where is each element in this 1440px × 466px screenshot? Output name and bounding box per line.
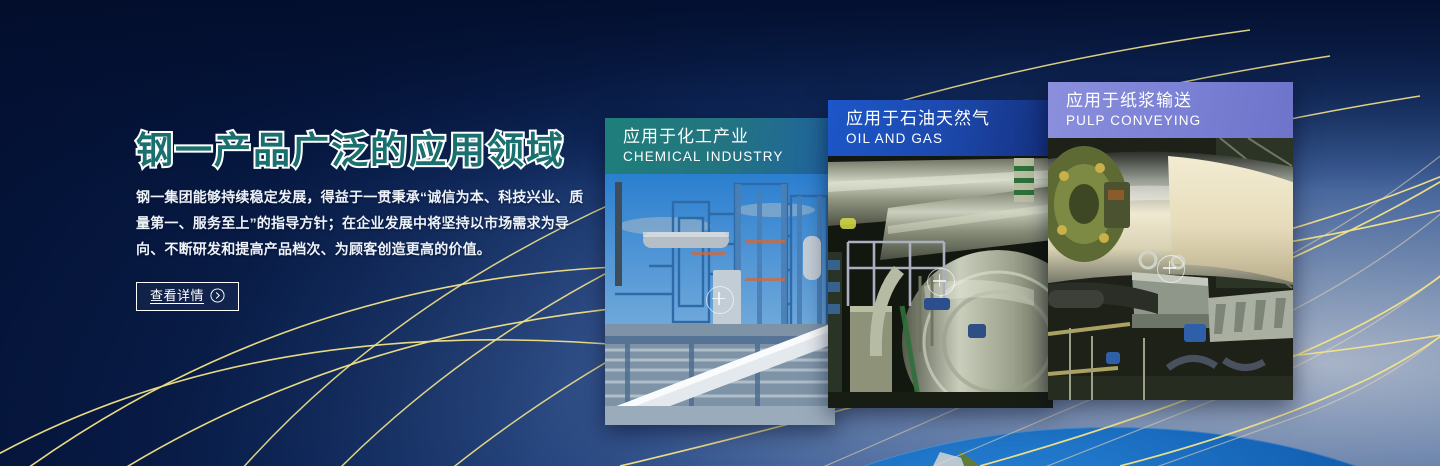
application-card-chemical[interactable]: 应用于化工产业 CHEMICAL INDUSTRY bbox=[605, 118, 835, 425]
card-title-en: CHEMICAL INDUSTRY bbox=[623, 148, 835, 166]
banner-copy: 钢一产品广泛的应用领域 钢一集团能够持续稳定发展，得益于一贯秉承“诚信为本、科技… bbox=[136, 131, 596, 311]
application-card-pulp[interactable]: 应用于纸浆输送 PULP CONVEYING bbox=[1048, 82, 1293, 400]
banner-paragraph: 钢一集团能够持续稳定发展，得益于一贯秉承“诚信为本、科技兴业、质量第一、服务至上… bbox=[136, 184, 588, 262]
circle-arrow-right-icon bbox=[210, 288, 225, 303]
view-details-button[interactable]: 查看详情 bbox=[136, 282, 239, 311]
view-details-label: 查看详情 bbox=[150, 288, 204, 304]
oil-gas-pipes-photo bbox=[828, 156, 1053, 408]
card-header-chemical: 应用于化工产业 CHEMICAL INDUSTRY bbox=[605, 118, 835, 174]
card-header-pulp: 应用于纸浆输送 PULP CONVEYING bbox=[1048, 82, 1293, 138]
plus-circle-icon[interactable] bbox=[1157, 255, 1185, 283]
page-title: 钢一产品广泛的应用领域 bbox=[136, 131, 596, 172]
plus-circle-icon[interactable] bbox=[706, 286, 734, 314]
pulp-mill-roller-photo bbox=[1048, 138, 1293, 400]
card-title-en: OIL AND GAS bbox=[846, 130, 1053, 148]
card-title-cn: 应用于纸浆输送 bbox=[1066, 89, 1293, 112]
card-title-cn: 应用于石油天然气 bbox=[846, 107, 1053, 130]
card-title-cn: 应用于化工产业 bbox=[623, 125, 835, 148]
application-card-oil-gas[interactable]: 应用于石油天然气 OIL AND GAS bbox=[828, 100, 1053, 408]
chemical-plant-photo bbox=[605, 174, 835, 425]
card-header-oil-gas: 应用于石油天然气 OIL AND GAS bbox=[828, 100, 1053, 156]
hero-banner: 钢一产品广泛的应用领域 钢一集团能够持续稳定发展，得益于一贯秉承“诚信为本、科技… bbox=[0, 0, 1440, 466]
plus-circle-icon[interactable] bbox=[927, 268, 955, 296]
card-title-en: PULP CONVEYING bbox=[1066, 112, 1293, 130]
